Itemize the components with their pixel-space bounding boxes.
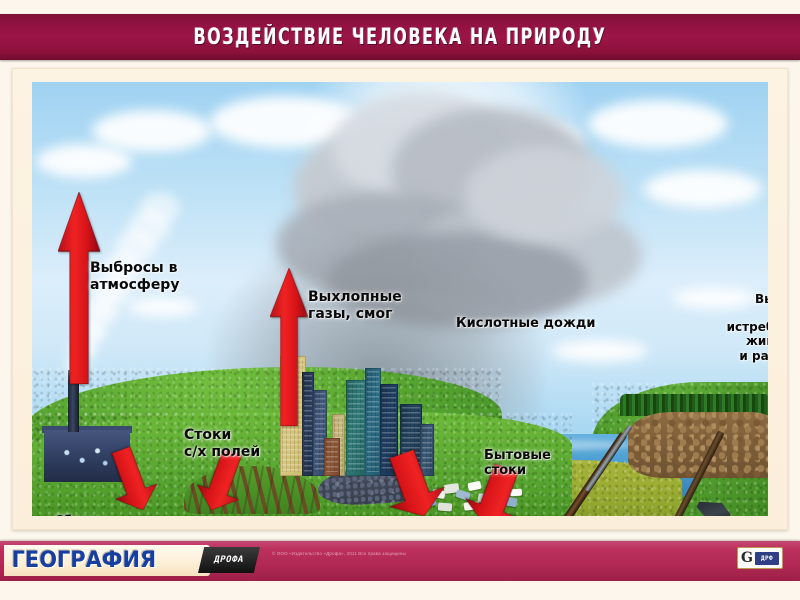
badge-letter: G [741, 551, 753, 565]
badge-mark-text: ДРФ [761, 555, 773, 562]
subject-label: ГЕОГРАФИЯ [4, 548, 156, 573]
page-title: ВОЗДЕЙСТВИЕ ЧЕЛОВЕКА НА ПРИРОДУ [194, 25, 607, 50]
cloud-1 [36, 144, 132, 178]
certification-badge: G ДРФ [737, 547, 783, 569]
title-banner: ВОЗДЕЙСТВИЕ ЧЕЛОВЕКА НА ПРИРОДУ [0, 14, 800, 60]
cloud-5 [644, 170, 762, 208]
brand-banner: ГЕОГРАФИЯ ДРОФА © ООО «Издательство «Дро… [0, 541, 800, 581]
label-discharges: Сбросы в водоёмы [54, 514, 135, 516]
label-farm-runoff: Стоки с/х полей [184, 427, 260, 460]
arrow-factory-down-icon [110, 448, 154, 512]
label-emissions: Выбросы в атмосферу [90, 260, 179, 293]
illustration-scene: Выбросы в атмосферуВыхлопные газы, смогК… [32, 82, 768, 516]
picture-frame: Выбросы в атмосферуВыхлопные газы, смогК… [12, 68, 788, 530]
label-deforestation: Вырубка лесов, истребление животных и ра… [727, 292, 768, 363]
building-4 [346, 380, 366, 476]
storm-blob-6 [464, 146, 624, 242]
arrow-city-waste-icon [384, 452, 442, 516]
smoke-puff-8 [140, 192, 180, 224]
poster-root: ВОЗДЕЙСТВИЕ ЧЕЛОВЕКА НА ПРИРОДУ [0, 0, 800, 600]
badge-mark-box: ДРФ [755, 552, 779, 565]
label-acid-rain: Кислотные дожди [456, 316, 595, 331]
publisher-logo-text: ДРОФА [213, 555, 245, 565]
cloud-6 [128, 298, 198, 316]
label-domestic-sewage: Бытовые стоки [484, 448, 551, 479]
cloud-4 [588, 100, 728, 148]
cloud-0 [92, 110, 212, 152]
arrow-city-up-icon [270, 268, 308, 426]
building-5 [365, 368, 381, 476]
publisher-logo: ДРОФА [198, 547, 260, 573]
cloud-7 [552, 340, 648, 362]
subject-plaque: ГЕОГРАФИЯ [4, 545, 210, 576]
building-8 [324, 438, 340, 476]
label-exhaust: Выхлопные газы, смог [308, 289, 402, 322]
copyright-fine-print: © ООО «Издательство «Дрофа», 2011 Все пр… [272, 551, 482, 569]
